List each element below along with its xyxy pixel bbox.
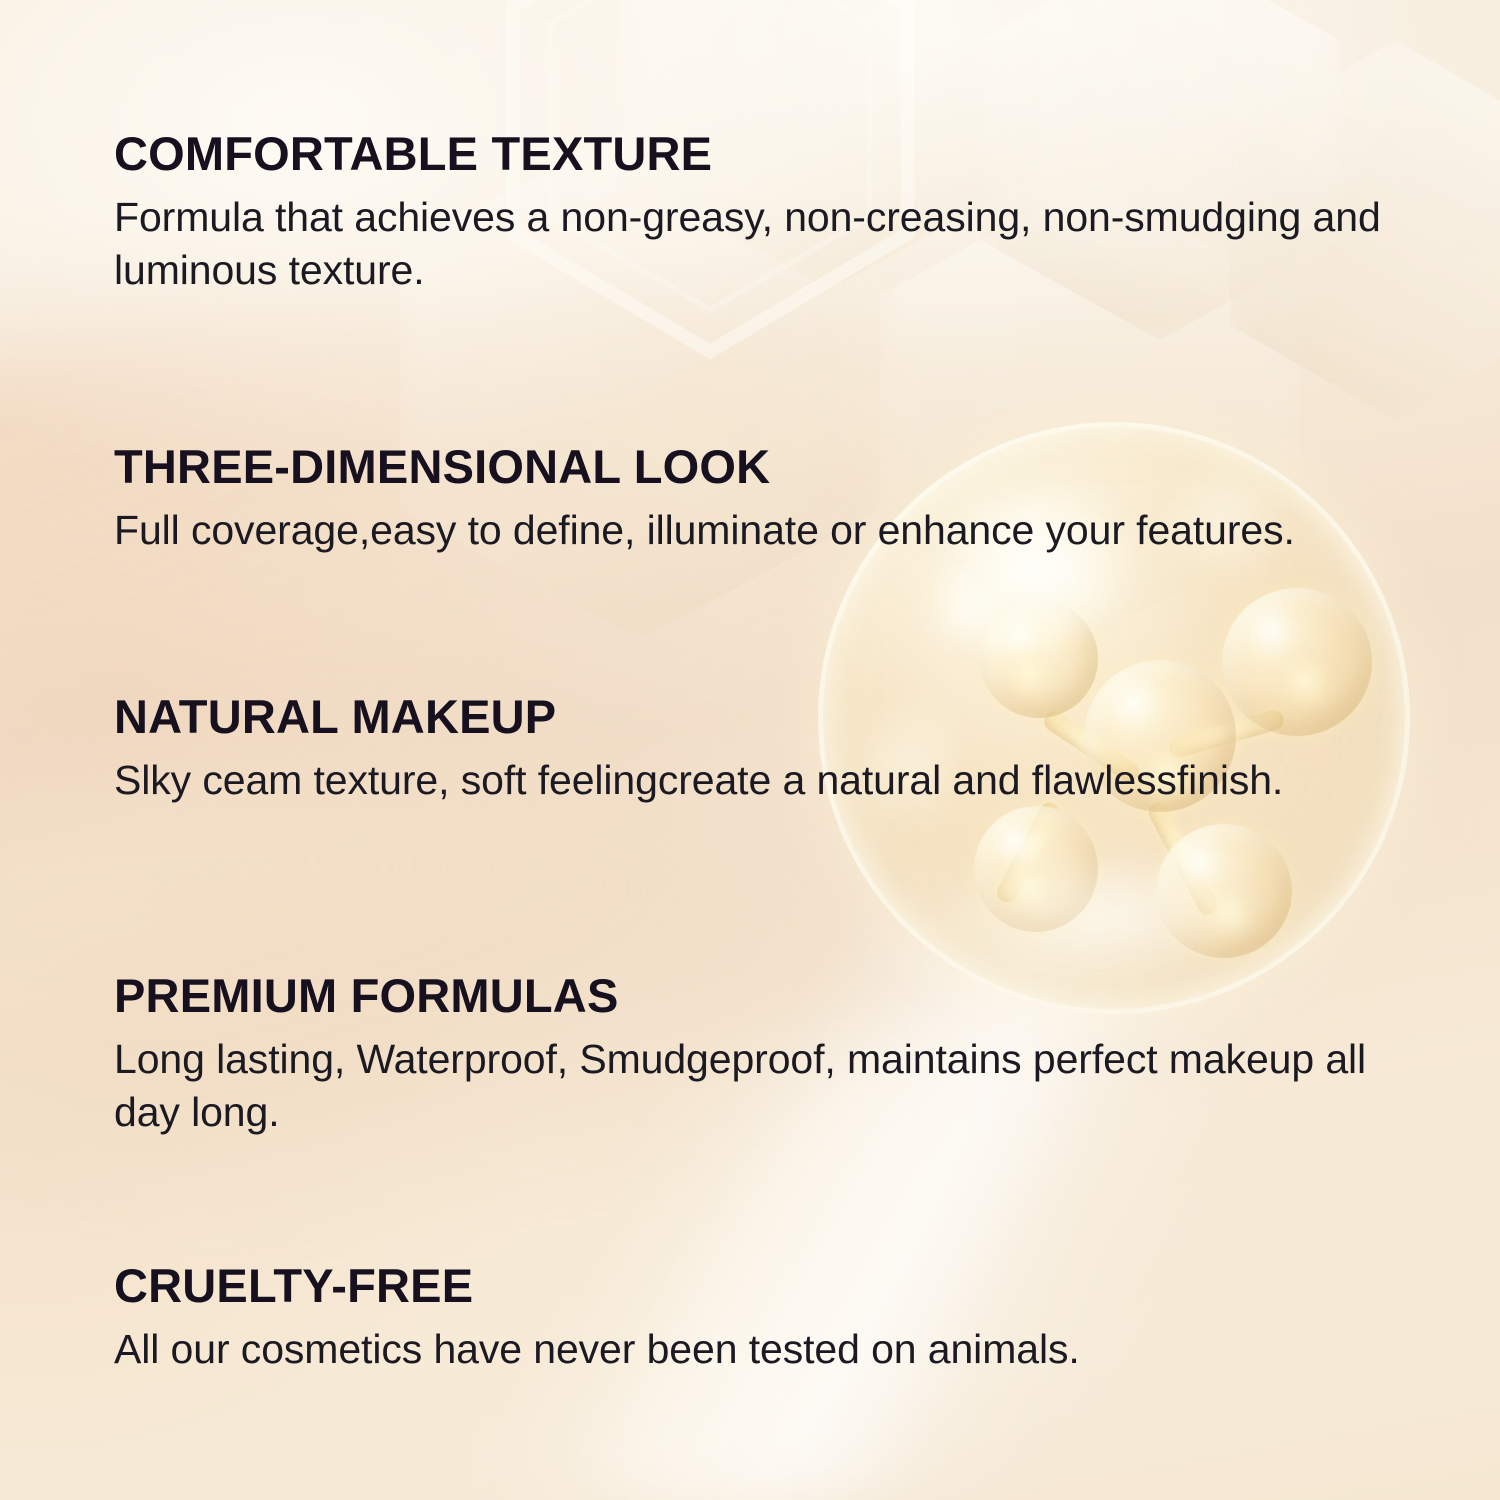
- feature-title: NATURAL MAKEUP: [114, 693, 1424, 740]
- feature-body: Long lasting, Waterproof, Smudgeproof, m…: [114, 1033, 1424, 1140]
- feature-title: COMFORTABLE TEXTURE: [114, 130, 1424, 177]
- feature-title: THREE-DIMENSIONAL LOOK: [114, 443, 1424, 490]
- feature-title: PREMIUM FORMULAS: [114, 972, 1424, 1019]
- feature-title: CRUELTY-FREE: [114, 1262, 1424, 1309]
- feature-body: All our cosmetics have never been tested…: [114, 1323, 1424, 1376]
- feature-body: Full coverage,easy to define, illuminate…: [114, 504, 1424, 557]
- feature-body: Slky ceam texture, soft feelingcreate a …: [114, 754, 1424, 807]
- feature-list: COMFORTABLE TEXTURE Formula that achieve…: [0, 0, 1500, 1500]
- feature-body: Formula that achieves a non-greasy, non-…: [114, 191, 1424, 298]
- feature-natural-makeup: NATURAL MAKEUP Slky ceam texture, soft f…: [114, 693, 1424, 807]
- feature-premium-formulas: PREMIUM FORMULAS Long lasting, Waterproo…: [114, 972, 1424, 1140]
- product-feature-graphic: COMFORTABLE TEXTURE Formula that achieve…: [0, 0, 1500, 1500]
- feature-comfortable-texture: COMFORTABLE TEXTURE Formula that achieve…: [114, 130, 1424, 298]
- feature-cruelty-free: CRUELTY-FREE All our cosmetics have neve…: [114, 1262, 1424, 1376]
- feature-three-dimensional-look: THREE-DIMENSIONAL LOOK Full coverage,eas…: [114, 443, 1424, 557]
